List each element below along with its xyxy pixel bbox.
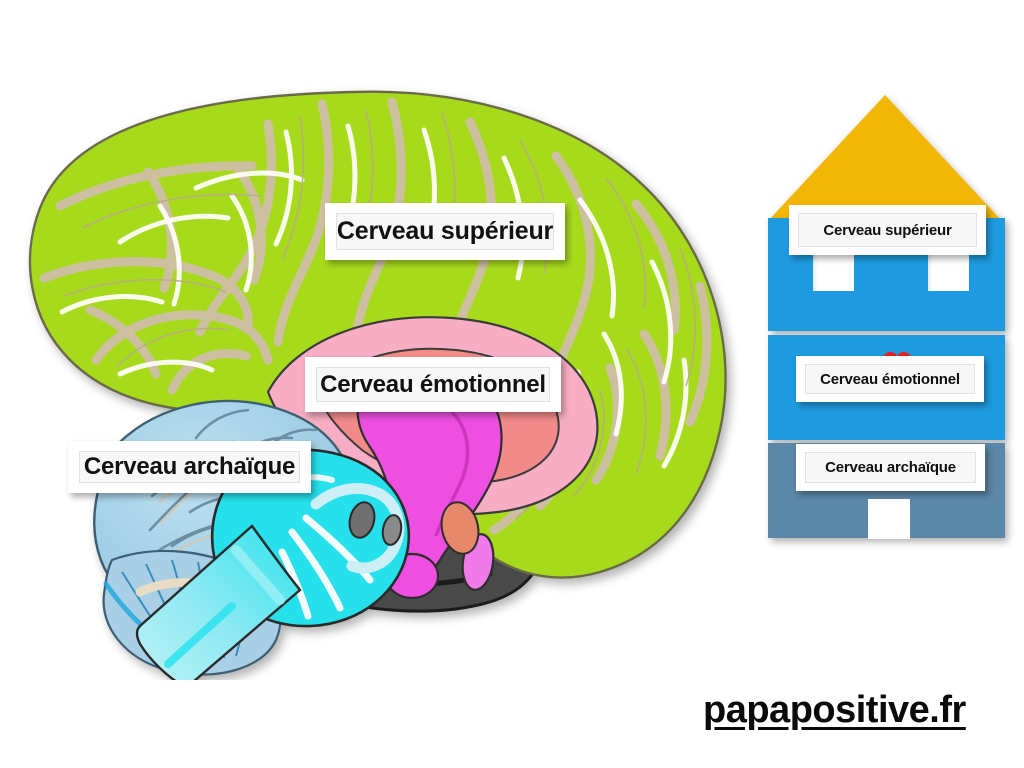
label-inner-panel: Cerveau émotionnel: [316, 367, 550, 402]
house-door: [868, 499, 910, 539]
label-cerveau-emotionnel: Cerveau émotionnel: [305, 357, 561, 412]
label-inner-panel: Cerveau archaïque: [805, 452, 976, 483]
label-inner-panel: Cerveau émotionnel: [805, 364, 975, 394]
label-cerveau-superieur: Cerveau supérieur: [325, 203, 565, 260]
diagram-canvas: Cerveau supérieur Cerveau émotionnel Cer…: [0, 0, 1024, 768]
label-inner-panel: Cerveau supérieur: [798, 213, 977, 247]
house-label-cerveau-emotionnel: Cerveau émotionnel: [796, 356, 984, 402]
house-roof: [768, 95, 1002, 221]
house-label-cerveau-superieur: Cerveau supérieur: [789, 205, 986, 255]
site-credit: papapositive.fr: [703, 689, 966, 732]
label-cerveau-archaique: Cerveau archaïque: [68, 441, 311, 493]
label-text: Cerveau émotionnel: [320, 371, 546, 399]
label-text: Cerveau émotionnel: [820, 371, 960, 388]
label-text: Cerveau supérieur: [823, 222, 951, 239]
house-label-cerveau-archaique: Cerveau archaïque: [796, 444, 985, 491]
label-inner-panel: Cerveau supérieur: [336, 213, 554, 250]
label-text: Cerveau supérieur: [337, 217, 553, 246]
label-inner-panel: Cerveau archaïque: [79, 451, 300, 483]
window-right: [928, 251, 969, 291]
label-text: Cerveau archaïque: [84, 453, 295, 481]
label-text: Cerveau archaïque: [825, 459, 956, 476]
window-left: [813, 251, 854, 291]
